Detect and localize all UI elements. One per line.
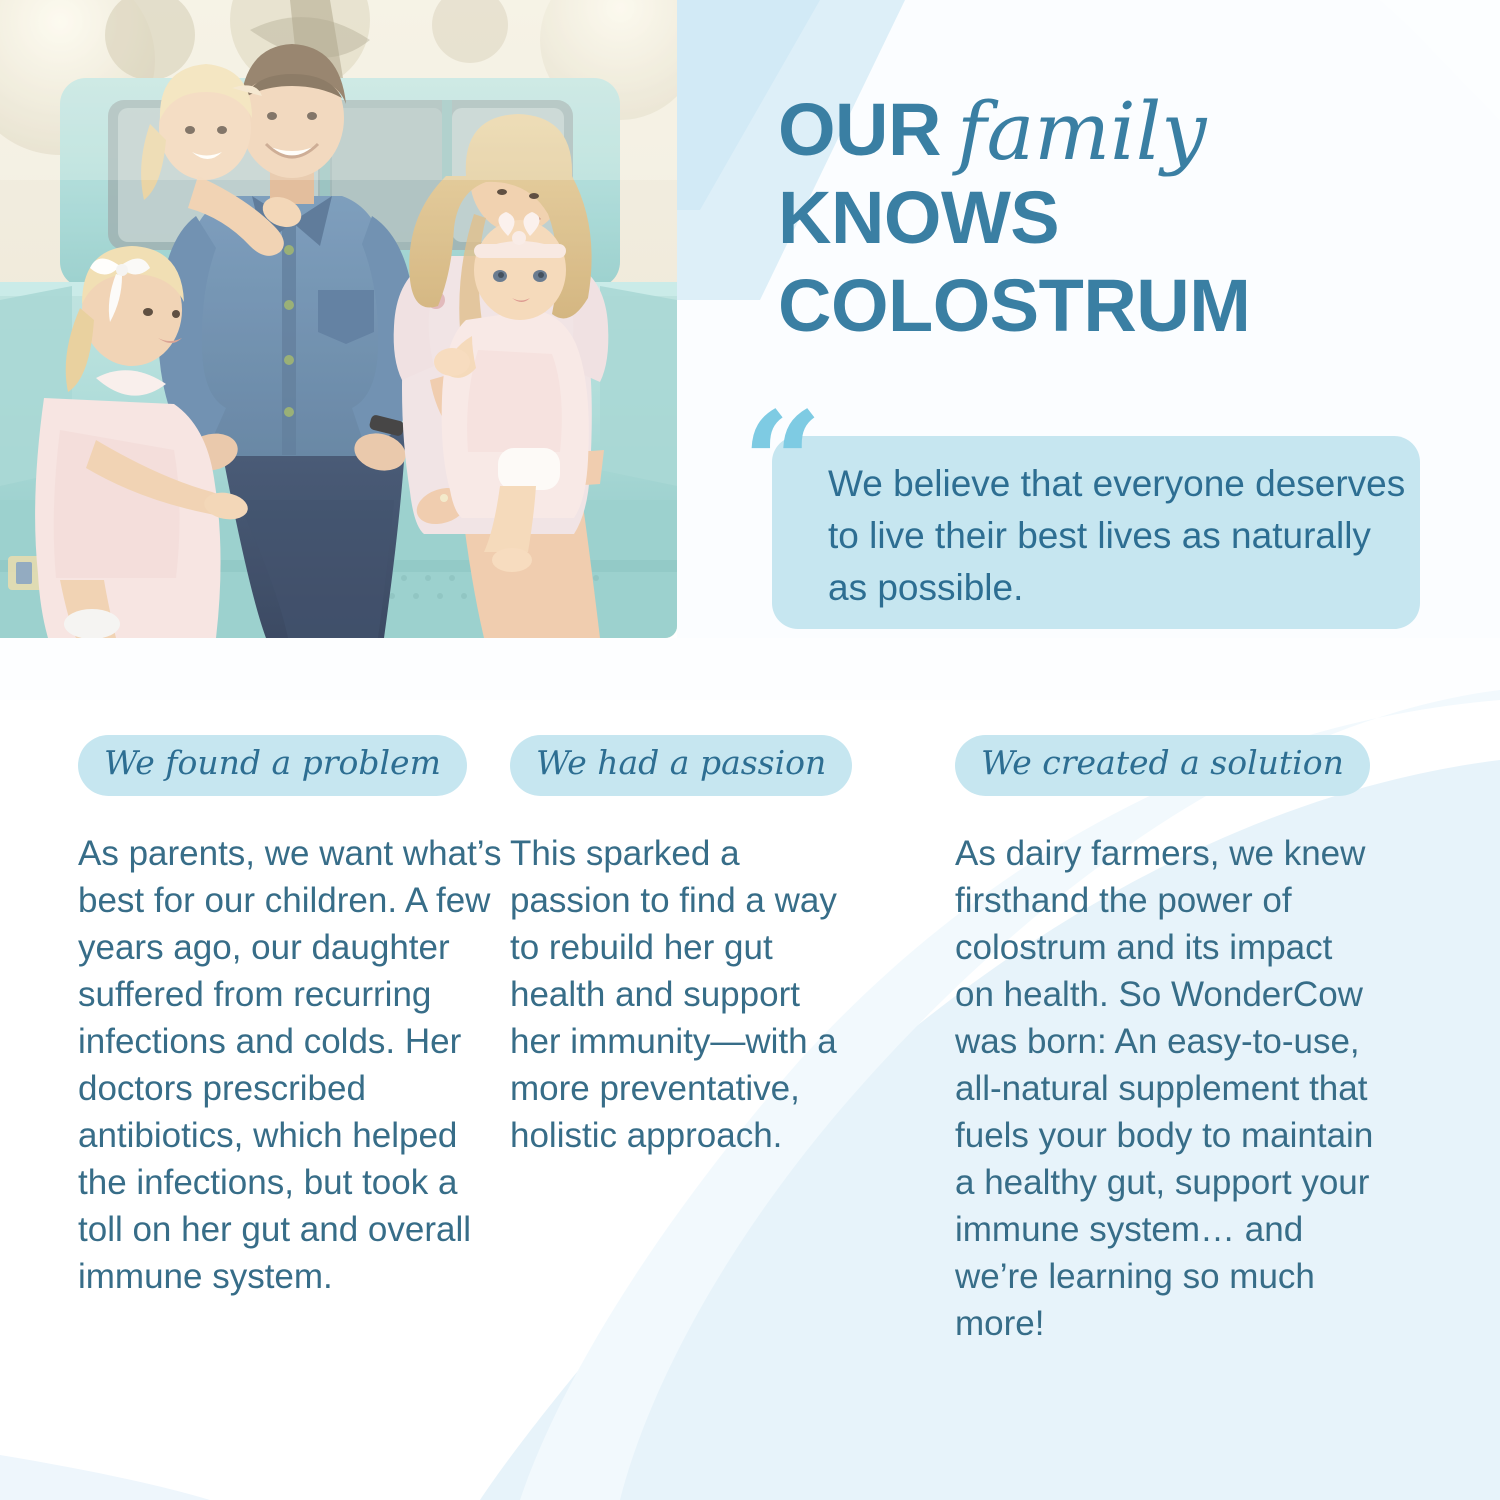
pill-we-created-a-solution: We created a solution [955,735,1370,796]
quote-text: We believe that everyone deserves to liv… [828,458,1408,614]
story-body-solution: As dairy farmers, we knew firsthand the … [955,830,1380,1347]
mission-quote: “ We believe that everyone deserves to l… [742,414,1432,634]
pill-label: We created a solution [981,743,1344,783]
headline-family-script: family [957,85,1207,178]
headline-our: OUR [778,88,941,171]
story-body-passion: This sparked a passion to find a way to … [510,830,855,1159]
story-body-problem: As parents, we want what’s best for our … [78,830,508,1300]
quote-mark-icon: “ [742,414,817,514]
pill-we-found-a-problem: We found a problem [78,735,467,796]
story-column-solution: We created a solution As dairy farmers, … [955,735,1445,1347]
story-columns: We found a problem As parents, we want w… [0,735,1500,1347]
infographic-page: OURfamily KNOWS COLOSTRUM “ We believe t… [0,0,1500,1500]
pill-we-had-a-passion: We had a passion [510,735,852,796]
pill-label: We had a passion [536,743,826,783]
pill-label: We found a problem [104,743,441,783]
story-column-passion: We had a passion This sparked a passion … [510,735,955,1347]
headline-line-1: OURfamily [778,84,1418,174]
headline-line-2: KNOWS [778,174,1418,262]
headline-line-3: COLOSTRUM [778,262,1418,350]
headline: OURfamily KNOWS COLOSTRUM [778,84,1418,350]
family-photo [0,0,677,638]
story-column-problem: We found a problem As parents, we want w… [0,735,510,1347]
family-photo-artwork [0,0,677,638]
